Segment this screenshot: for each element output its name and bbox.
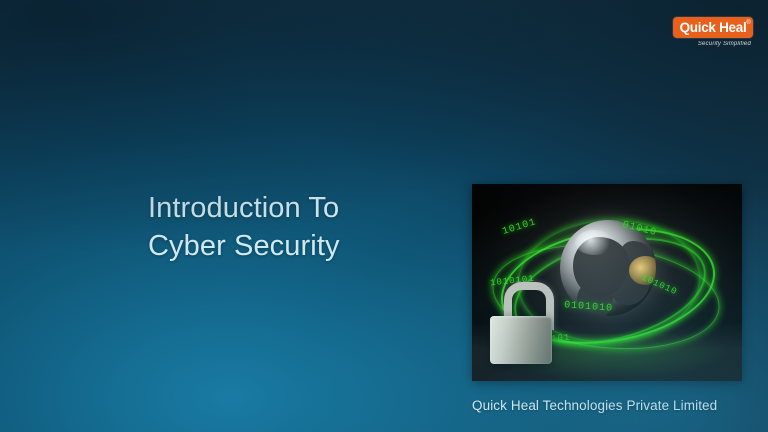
title-line-2: Cyber Security <box>148 228 478 266</box>
cyber-security-image: 10101 01010 1010101 0101010 101010 01010… <box>472 184 742 381</box>
logo-badge: Quick Heal® <box>673 17 753 38</box>
logo-wordmark: Quick Heal® <box>680 21 747 35</box>
logo-trademark: ® <box>746 20 750 26</box>
logo-tagline: Security Simplified <box>673 41 753 47</box>
presentation-slide: Quick Heal® Security Simplified Introduc… <box>0 0 768 432</box>
title-line-1: Introduction To <box>148 190 478 228</box>
padlock-icon <box>490 282 552 364</box>
slide-title: Introduction To Cyber Security <box>148 190 478 265</box>
brand-logo: Quick Heal® Security Simplified <box>673 17 753 47</box>
slide-footer: Quick Heal Technologies Private Limited <box>472 398 717 413</box>
globe-highlight <box>575 230 613 255</box>
padlock-body <box>490 316 552 364</box>
